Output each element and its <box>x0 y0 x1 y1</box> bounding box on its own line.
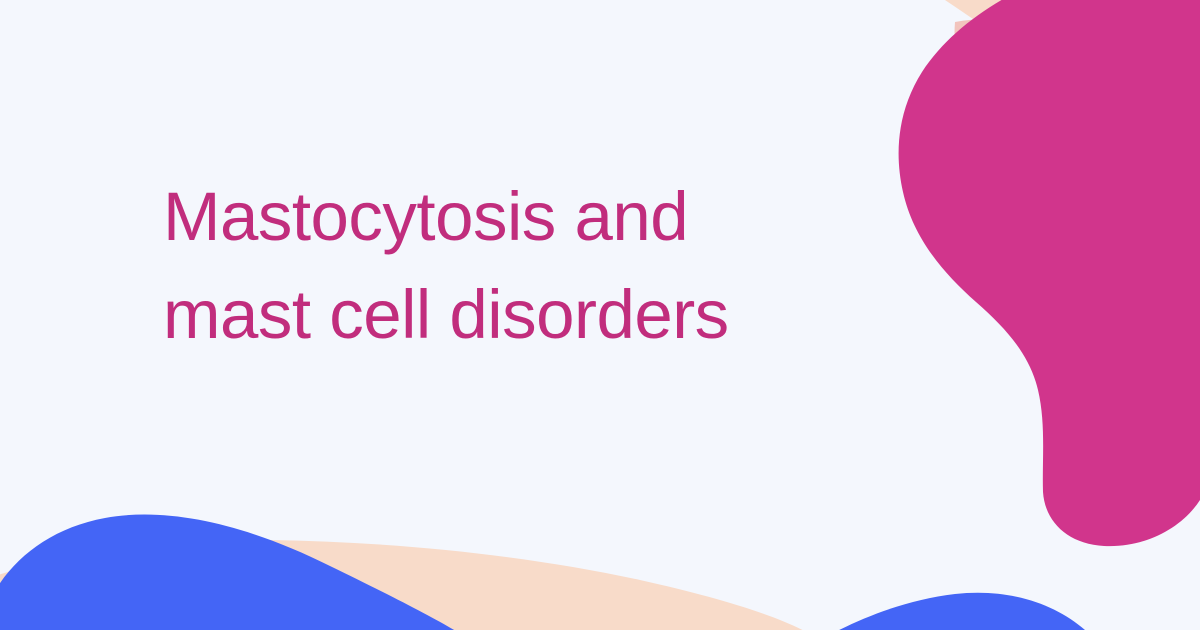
share-card: Mastocytosis and mast cell disorders <box>0 0 1200 630</box>
page-title: Mastocytosis and mast cell disorders <box>163 168 903 364</box>
title-line-2: mast cell disorders <box>163 266 903 364</box>
title-line-1: Mastocytosis and <box>163 168 903 266</box>
content-layer: Mastocytosis and mast cell disorders <box>0 0 1200 630</box>
